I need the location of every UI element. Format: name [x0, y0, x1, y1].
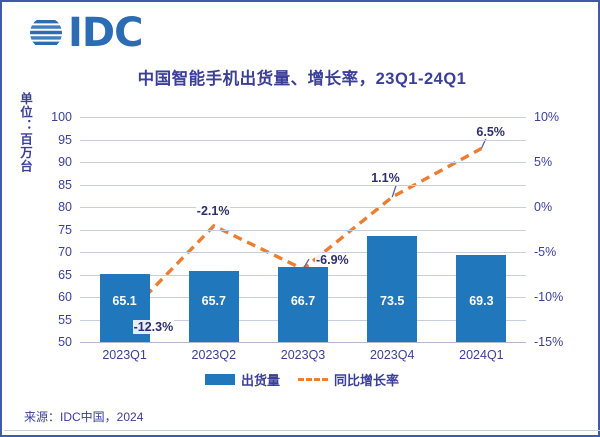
y-axis-tick-label: 70: [28, 245, 72, 259]
gridline: [80, 140, 526, 141]
y2-axis-tick-label: -10%: [534, 290, 594, 304]
chart-title: 中国智能手机出货量、增长率，23Q1-24Q1: [2, 65, 600, 89]
y-axis-tick-label: 65: [28, 268, 72, 282]
y-axis-tick-label: 95: [28, 133, 72, 147]
idc-wordmark: IDC: [68, 13, 142, 53]
idc-globe-icon: [26, 13, 66, 53]
bar-value-label: 73.5: [380, 294, 404, 308]
y-axis-tick-label: 60: [28, 290, 72, 304]
legend-bar-swatch-icon: [205, 374, 235, 385]
y-axis-tick-label: 50: [28, 335, 72, 349]
bar-value-label: 69.3: [469, 294, 493, 308]
bar-value-label: 66.7: [291, 294, 315, 308]
x-axis-tick-label: 2023Q3: [281, 348, 325, 362]
gridline: [80, 230, 526, 231]
y-axis-tick-label: 80: [28, 200, 72, 214]
legend-item-shipments: 出货量: [205, 370, 280, 389]
gridline: [80, 207, 526, 208]
x-axis-tick-label: 2023Q1: [102, 348, 146, 362]
legend-line-label: 同比增长率: [334, 370, 399, 389]
source-note: 来源：IDC中国，2024: [24, 408, 143, 425]
plot-area: 65.165.766.773.569.3-12.3%-2.1%-6.9%1.1%…: [80, 117, 526, 342]
line-value-label: -2.1%: [196, 204, 231, 218]
gridline: [80, 117, 526, 118]
y2-axis-tick-label: 0%: [534, 200, 594, 214]
gridline: [80, 162, 526, 163]
y-axis-tick-label: 85: [28, 178, 72, 192]
chart-legend: 出货量 同比增长率: [2, 370, 600, 389]
line-value-label: -12.3%: [133, 320, 175, 334]
legend-line-swatch-icon: [298, 378, 328, 381]
y2-axis-tick-label: -15%: [534, 335, 594, 349]
y-axis-tick-label: 75: [28, 223, 72, 237]
chart-area: 65.165.766.773.569.3-12.3%-2.1%-6.9%1.1%…: [2, 102, 600, 367]
y2-axis-tick-label: -5%: [534, 245, 594, 259]
idc-logo: IDC: [26, 12, 142, 54]
legend-item-growth: 同比增长率: [298, 370, 399, 389]
legend-bar-label: 出货量: [241, 370, 280, 389]
line-value-label: -6.9%: [315, 253, 350, 267]
bar-2023Q4[interactable]: [367, 236, 417, 342]
line-value-label: 6.5%: [475, 125, 506, 139]
chart-card: IDC 中国智能手机出货量、增长率，23Q1-24Q1 单位：百万台 65.16…: [0, 0, 600, 437]
gridline: [80, 252, 526, 253]
y2-axis-tick-label: 5%: [534, 155, 594, 169]
footer-divider: [4, 430, 600, 431]
y2-axis-tick-label: 10%: [534, 110, 594, 124]
bar-value-label: 65.1: [112, 294, 136, 308]
y-axis-tick-label: 55: [28, 313, 72, 327]
line-value-label: 1.1%: [370, 171, 401, 185]
gridline: [80, 342, 526, 343]
y-axis-tick-label: 90: [28, 155, 72, 169]
x-axis-tick-label: 2023Q2: [192, 348, 236, 362]
gridline: [80, 185, 526, 186]
x-axis-tick-label: 2024Q1: [459, 348, 503, 362]
y-axis-tick-label: 100: [28, 110, 72, 124]
x-axis-tick-label: 2023Q4: [370, 348, 414, 362]
bar-value-label: 65.7: [202, 294, 226, 308]
